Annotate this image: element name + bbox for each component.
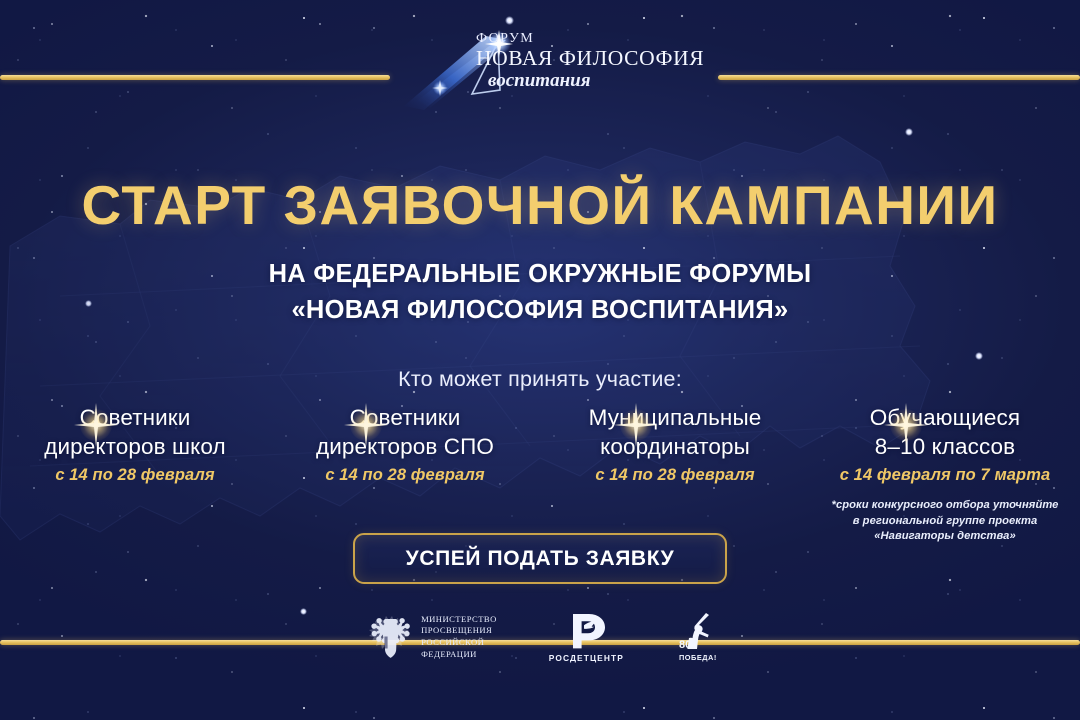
category-title: Обучающиеся 8–10 классов (818, 404, 1072, 462)
category-title-line1: Советники (350, 405, 461, 430)
category-title-line2: директоров СПО (316, 434, 494, 459)
category-title-line1: Советники (80, 405, 191, 430)
participant-categories: Советники директоров школ с 14 по 28 фев… (0, 404, 1080, 545)
category-title-line2: директоров школ (44, 434, 225, 459)
category-footnote-line1: *сроки конкурсного отбора уточняйте (832, 499, 1059, 511)
category-municipal-coordinators: Муниципальные координаторы с 14 по 28 фе… (540, 404, 810, 545)
footer-logos: МИНИСТЕРСТВО ПРОСВЕЩЕНИЯ РОССИЙСКОЙ ФЕДЕ… (0, 602, 1080, 672)
category-footnote-line3: «Навигаторы детства» (874, 530, 1015, 542)
category-dates: с 14 по 28 февраля (278, 466, 532, 485)
forum-logo-line3: воспитания (488, 71, 704, 92)
rosdetcentr-label: РОСДЕТЦЕНТР (549, 653, 624, 663)
category-title: Советники директоров школ (8, 404, 262, 462)
ministry-label: МИНИСТЕРСТВО ПРОСВЕЩЕНИЯ РОССИЙСКОЙ ФЕДЕ… (421, 614, 497, 660)
forum-logo-line2: НОВАЯ ФИЛОСОФИЯ (476, 46, 704, 71)
category-students-grades-8-10: Обучающиеся 8–10 классов с 14 февраля по… (810, 404, 1080, 545)
ministry-label-line1: МИНИСТЕРСТВО (421, 614, 497, 626)
category-dates: с 14 по 28 февраля (8, 466, 262, 485)
category-dates: с 14 по 28 февраля (548, 466, 802, 485)
poster-root: ФОРУМ НОВАЯ ФИЛОСОФИЯ воспитания СТАРТ З… (0, 0, 1080, 720)
rosdetcentr-mark-icon (565, 612, 607, 650)
page-subtitle-line1: НА ФЕДЕРАЛЬНЫЕ ОКРУЖНЫЕ ФОРУМЫ (0, 256, 1080, 292)
forum-logo: ФОРУМ НОВАЯ ФИЛОСОФИЯ воспитания (400, 28, 720, 110)
rosdetcentr-logo: РОСДЕТЦЕНТР (549, 612, 624, 663)
forum-logo-line1: ФОРУМ (476, 32, 704, 46)
category-footnote: *сроки конкурсного отбора уточняйте в ре… (818, 498, 1072, 546)
category-title-line1: Муниципальные (589, 405, 762, 430)
category-title: Советники директоров СПО (278, 404, 532, 462)
apply-now-button[interactable]: УСПЕЙ ПОДАТЬ ЗАЯВКУ (353, 533, 727, 584)
bright-star (905, 128, 913, 136)
bright-star (505, 16, 514, 25)
category-spo-directors-advisors: Советники директоров СПО с 14 по 28 февр… (270, 404, 540, 545)
category-dates: с 14 февраля по 7 марта (818, 466, 1072, 485)
ministry-label-line2: ПРОСВЕЩЕНИЯ (421, 625, 497, 637)
ministry-label-line4: ФЕДЕРАЦИИ (421, 649, 497, 661)
victory-label: ПОБЕДА! (679, 653, 717, 662)
participants-label: Кто может принять участие: (0, 367, 1080, 392)
category-title-line2: координаторы (600, 434, 750, 459)
category-school-directors-advisors: Советники директоров школ с 14 по 28 фев… (0, 404, 270, 545)
motherland-calls-statue-icon: 80 (676, 612, 720, 654)
ministry-of-education-logo: МИНИСТЕРСТВО ПРОСВЕЩЕНИЯ РОССИЙСКОЙ ФЕДЕ… (360, 613, 497, 661)
bright-star (975, 352, 983, 360)
ministry-label-line3: РОССИЙСКОЙ (421, 637, 497, 649)
russian-coat-of-arms-icon (360, 613, 412, 661)
page-title: СТАРТ ЗАЯВОЧНОЙ КАМПАНИИ (0, 173, 1080, 237)
category-title-line2: 8–10 классов (875, 434, 1015, 459)
victory-number: 80 (679, 639, 691, 651)
divider-gold-left (0, 75, 390, 80)
victory-80-logo: 80 ПОБЕДА! (676, 612, 720, 662)
divider-gold-right (718, 75, 1080, 80)
page-subtitle: НА ФЕДЕРАЛЬНЫЕ ОКРУЖНЫЕ ФОРУМЫ «НОВАЯ ФИ… (0, 256, 1080, 328)
page-subtitle-line2: «НОВАЯ ФИЛОСОФИЯ ВОСПИТАНИЯ» (0, 292, 1080, 328)
category-title: Муниципальные координаторы (548, 404, 802, 462)
category-title-line1: Обучающиеся (870, 405, 1020, 430)
category-footnote-line2: в региональной группе проекта (853, 515, 1038, 527)
